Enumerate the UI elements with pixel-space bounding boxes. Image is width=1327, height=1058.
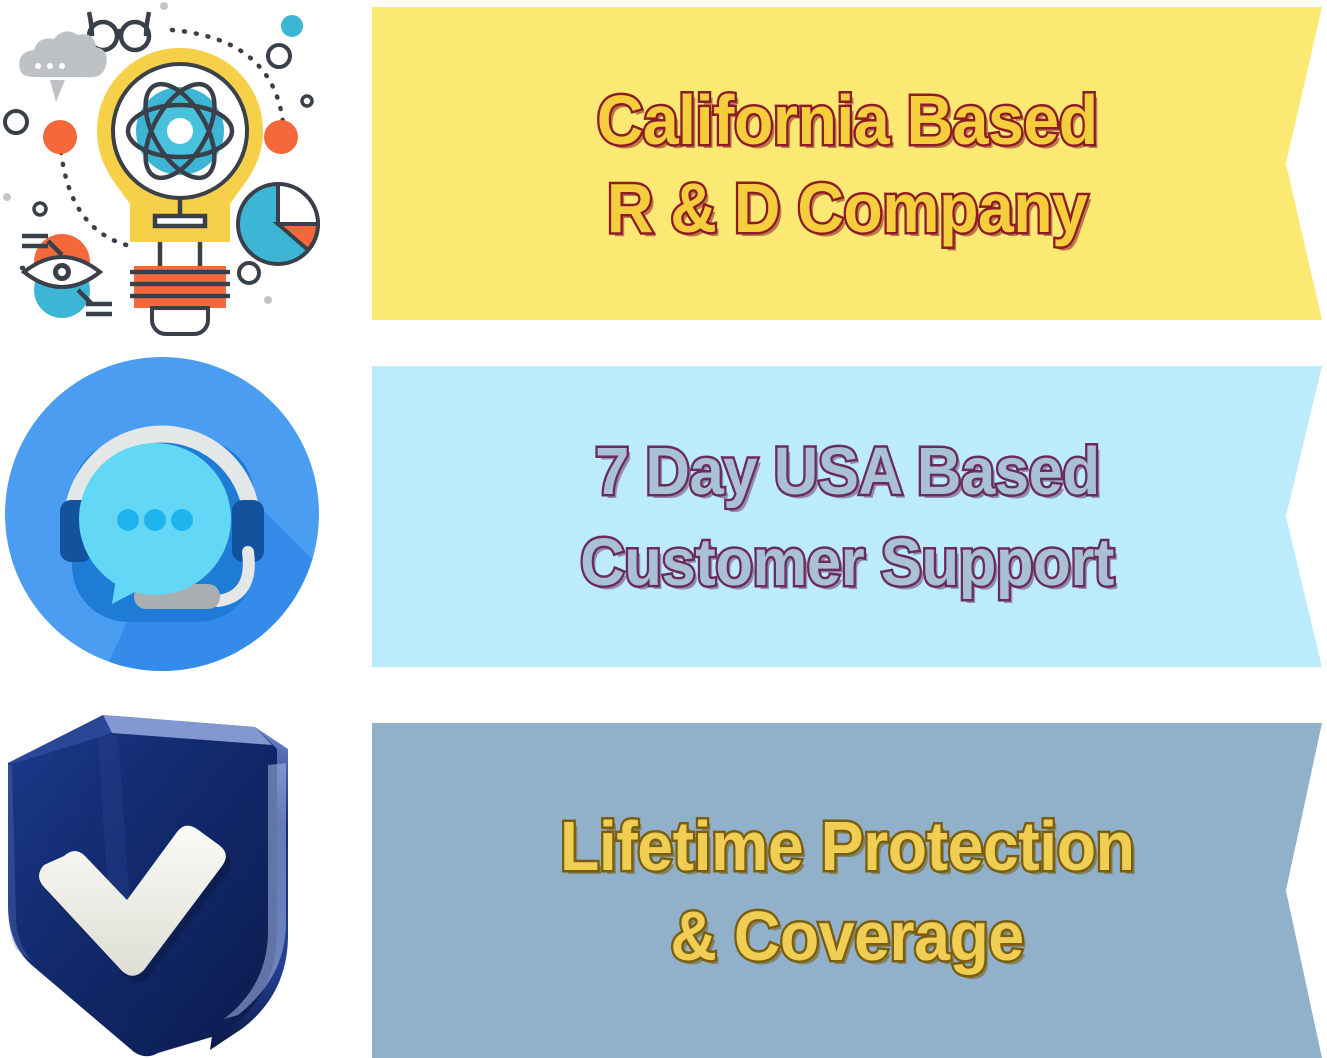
banner-customer-support: 7 Day USA Based Customer Support xyxy=(372,366,1322,667)
feature-row-california-rd: California Based R & D Company xyxy=(0,0,1327,340)
banner-line-2: R & D Company xyxy=(607,173,1088,243)
banner-line-1: Lifetime Protection xyxy=(560,811,1135,881)
feature-row-customer-support: 7 Day USA Based Customer Support xyxy=(0,352,1327,682)
banner-line-2: & Coverage xyxy=(670,901,1023,971)
lightbulb-atom-idea-icon xyxy=(0,0,360,340)
banner-lifetime-protection: Lifetime Protection & Coverage xyxy=(372,723,1322,1058)
feature-row-lifetime-protection: Lifetime Protection & Coverage xyxy=(0,705,1327,1058)
banner-line-1: California Based xyxy=(597,85,1098,155)
feature-banner-sheet: California Based R & D Company xyxy=(0,0,1327,1058)
banner-line-2: Customer Support xyxy=(580,529,1114,596)
banner-line-1: 7 Day USA Based xyxy=(595,438,1100,505)
banner-california-rd: California Based R & D Company xyxy=(372,7,1322,320)
shield-checkmark-icon xyxy=(0,705,360,1058)
headset-support-icon xyxy=(0,352,360,682)
